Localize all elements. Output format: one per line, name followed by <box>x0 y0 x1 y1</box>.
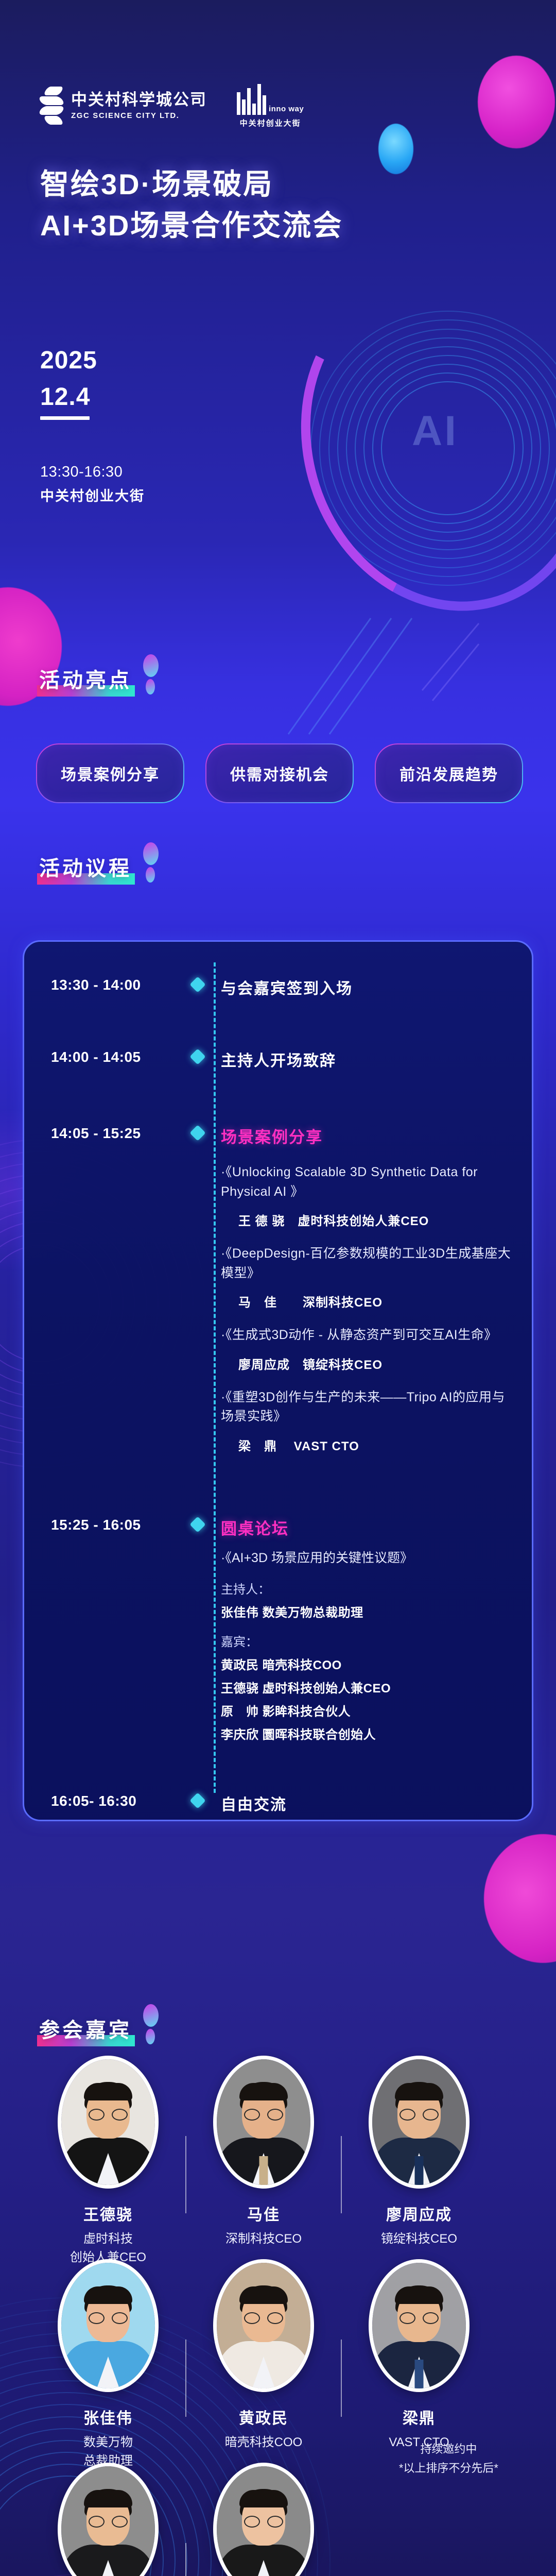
avatar-illustration <box>372 2263 466 2388</box>
guest-note-line-1: 持续邀约中 <box>399 2439 498 2459</box>
decor-magenta-blob-right <box>484 1834 556 1963</box>
section-heading-highlights: 活动亮点 <box>37 654 161 694</box>
avatar-illustration <box>217 2059 310 2185</box>
agenda-talk: ·《重塑3D创作与生产的未来——Tripo AI的应用与场景实践》梁 鼎 VAS… <box>221 1388 511 1454</box>
header-logos: 中关村科学城公司 ZGC SCIENCE CITY LTD. inno way … <box>0 67 556 144</box>
agenda-row-body: 圆桌论坛·《AI+3D 场景应用的关键性议题》主持人：张佳伟 数美万物总裁助理嘉… <box>214 1516 511 1743</box>
event-month-day: 12.4 <box>40 383 97 411</box>
agenda-marker-icon <box>189 1792 214 1815</box>
agenda-marker-icon <box>189 976 214 998</box>
agenda-row-body: 主持人开场致辞 <box>214 1048 511 1071</box>
guest-name: 黄政民 <box>239 2405 288 2428</box>
agenda-talk-speaker: 王 德 骁 虚时科技创始人兼CEO <box>221 1211 511 1229</box>
agenda-heading-text: 活动议程 <box>39 857 132 880</box>
agenda-marker-icon <box>189 1048 214 1071</box>
agenda-row-time: 15:25 - 16:05 <box>51 1516 189 1743</box>
logo-zgc-science-city: 中关村科学城公司 ZGC SCIENCE CITY LTD. <box>40 86 207 126</box>
title-line-2: AI+3D场景合作交流会 <box>40 205 343 246</box>
roundtable-guest: 黄政民 暗壳科技COO <box>221 1655 511 1673</box>
highlight-pill-1: 场景案例分享 <box>36 743 184 803</box>
guest-avatar <box>213 2259 314 2392</box>
guest-note: 持续邀约中 *以上排序不分先后* <box>399 2439 498 2478</box>
logo-zgc-cn: 中关村科学城公司 <box>71 91 207 109</box>
agenda-row-time: 14:05 - 15:25 <box>51 1124 189 1454</box>
event-meta: 13:30-16:30 中关村创业大街 <box>40 464 145 505</box>
logo-zgc-en: ZGC SCIENCE CITY LTD. <box>71 111 207 120</box>
guest-role: 镜绽科技CEO <box>381 2230 457 2248</box>
decor-hero-rings <box>288 289 556 608</box>
dna-helix-icon <box>40 86 63 126</box>
agenda-talk: ·《生成式3D动作 - 从静态资产到可交互AI生命》廖周应成 镜绽科技CEO <box>221 1326 511 1372</box>
section-heading-agenda: 活动议程 <box>37 842 161 883</box>
roundtable-topic: ·《AI+3D 场景应用的关键性议题》 <box>221 1548 511 1568</box>
logo-inno-word: inno way <box>269 106 304 115</box>
guest-note-line-2: *以上排序不分先后* <box>399 2459 498 2478</box>
guest-card: 马佳深制科技CEO <box>186 2056 341 2267</box>
guest-card: 梁鼎VAST CTO <box>342 2259 496 2470</box>
guest-row: 原帅影眸科技合伙人 李庆欣圜晖科技联合创始人 <box>31 2463 350 2576</box>
highlight-pill-3: 前沿发展趋势 <box>375 743 523 803</box>
agenda-row: 13:30 - 14:00与会嘉宾签到入场 <box>24 976 532 998</box>
guest-card: 王德骁虚时科技创始人兼CEO <box>31 2056 185 2267</box>
guest-role: 深制科技CEO <box>225 2230 302 2248</box>
agenda-row-time: 16:05- 16:30 <box>51 1792 189 1815</box>
guest-avatar <box>369 2056 470 2189</box>
avatar-illustration <box>61 2059 155 2185</box>
guest-card: 廖周应成镜绽科技CEO <box>342 2056 496 2267</box>
heading-dots-icon <box>143 2004 161 2044</box>
agenda-row: 15:25 - 16:05圆桌论坛·《AI+3D 场景应用的关键性议题》主持人：… <box>24 1516 532 1743</box>
guest-avatar <box>58 2259 159 2392</box>
agenda-row-body: 与会嘉宾签到入场 <box>214 976 511 998</box>
agenda-card: 13:30 - 14:00与会嘉宾签到入场14:00 - 14:05主持人开场致… <box>23 940 533 1821</box>
guest-name: 马佳 <box>247 2202 280 2225</box>
event-year: 2025 <box>40 346 97 375</box>
registration-footer: 长按识别左侧二维码报名 地址：北京市海淀区中关村创业大街 （具体地址待审核通过后… <box>0 2566 556 2576</box>
section-heading-guests: 参会嘉宾 <box>37 2004 161 2044</box>
agenda-row-time: 13:30 - 14:00 <box>51 976 189 998</box>
highlight-pill-2: 供需对接机会 <box>205 743 354 803</box>
logo-inno-way: inno way 中关村创业大街 <box>237 83 304 128</box>
agenda-talk-title: ·《DeepDesign-百亿参数规模的工业3D生成基座大模型》 <box>221 1244 511 1283</box>
poster-title: 智绘3D·场景破局 AI+3D场景合作交流会 <box>40 164 343 246</box>
guest-avatar <box>58 2056 159 2189</box>
agenda-row-title: 与会嘉宾签到入场 <box>221 976 511 998</box>
guests-heading-text: 参会嘉宾 <box>39 2019 132 2042</box>
guest-row: 王德骁虚时科技创始人兼CEO 马佳深制科技CEO 廖周应成镜绽科技CEO <box>31 2056 515 2267</box>
roundtable-guest-label: 嘉宾： <box>221 1632 511 1650</box>
guest-row: 张佳伟数美万物总裁助理 黄政民暗壳科技COO 梁鼎VAST CTO <box>31 2259 515 2470</box>
agenda-row-title: 场景案例分享 <box>221 1124 511 1147</box>
roundtable-guest: 李庆欣 圜晖科技联合创始人 <box>221 1724 511 1742</box>
guest-card: 黄政民暗壳科技COO <box>186 2259 341 2470</box>
decor-hero-arc <box>258 237 556 650</box>
agenda-row-body: 场景案例分享·《Unlocking Scalable 3D Synthetic … <box>214 1124 511 1454</box>
roundtable-guest: 王德骁 虚时科技创始人兼CEO <box>221 1678 511 1696</box>
guest-avatar <box>213 2463 314 2576</box>
buildings-icon <box>237 84 266 115</box>
guest-avatar <box>213 2056 314 2189</box>
event-poster: AI 中关村科学城公司 ZGC SCIENCE CITY LTD. <box>0 0 556 2576</box>
roundtable-host-label: 主持人： <box>221 1579 511 1597</box>
agenda-marker-icon <box>189 1516 214 1743</box>
agenda-row-list: 13:30 - 14:00与会嘉宾签到入场14:00 - 14:05主持人开场致… <box>24 976 532 1815</box>
guest-name: 张佳伟 <box>83 2405 133 2428</box>
agenda-talk-speaker: 廖周应成 镜绽科技CEO <box>221 1354 511 1372</box>
agenda-talk-title: ·《重塑3D创作与生产的未来——Tripo AI的应用与场景实践》 <box>221 1388 511 1427</box>
ai-watermark: AI <box>412 407 458 455</box>
agenda-talk-title: ·《Unlocking Scalable 3D Synthetic Data f… <box>221 1163 511 1201</box>
agenda-marker-icon <box>189 1124 214 1454</box>
guest-card: 李庆欣圜晖科技联合创始人 <box>186 2463 341 2576</box>
guest-avatar <box>369 2259 470 2392</box>
agenda-talk: ·《DeepDesign-百亿参数规模的工业3D生成基座大模型》马 佳 深制科技… <box>221 1244 511 1310</box>
roundtable-host: 张佳伟 数美万物总裁助理 <box>221 1602 511 1620</box>
guest-avatar <box>58 2463 159 2576</box>
agenda-row-title: 主持人开场致辞 <box>221 1048 511 1071</box>
event-location: 中关村创业大街 <box>40 485 145 505</box>
guest-name: 王德骁 <box>83 2202 133 2225</box>
agenda-row-time: 14:00 - 14:05 <box>51 1048 189 1071</box>
guest-name: 廖周应成 <box>386 2202 452 2225</box>
guest-card: 原帅影眸科技合伙人 <box>31 2463 185 2576</box>
agenda-talk-speaker: 梁 鼎 VAST CTO <box>221 1436 511 1454</box>
guest-role: 暗壳科技COO <box>225 2433 303 2452</box>
guest-name: 梁鼎 <box>403 2405 436 2428</box>
avatar-illustration <box>61 2263 155 2388</box>
highlight-pill-list: 场景案例分享供需对接机会前沿发展趋势 <box>36 743 523 803</box>
avatar-illustration <box>61 2466 155 2576</box>
agenda-row-title: 圆桌论坛 <box>221 1516 511 1539</box>
avatar-illustration <box>372 2059 466 2185</box>
heading-dots-icon <box>143 842 161 883</box>
avatar-illustration <box>217 2466 310 2576</box>
highlights-heading-text: 活动亮点 <box>39 669 132 692</box>
agenda-row: 14:00 - 14:05主持人开场致辞 <box>24 1048 532 1071</box>
agenda-row: 14:05 - 15:25场景案例分享·《Unlocking Scalable … <box>24 1124 532 1454</box>
event-date: 2025 12.4 <box>40 346 97 420</box>
heading-dots-icon <box>143 654 161 694</box>
roundtable-guest: 原 帅 影眸科技合伙人 <box>221 1701 511 1719</box>
date-underline <box>40 416 90 420</box>
agenda-talk: ·《Unlocking Scalable 3D Synthetic Data f… <box>221 1163 511 1229</box>
title-line-1: 智绘3D·场景破局 <box>40 164 343 205</box>
event-time: 13:30-16:30 <box>40 464 145 481</box>
agenda-talk-speaker: 马 佳 深制科技CEO <box>221 1292 511 1310</box>
avatar-illustration <box>217 2263 310 2388</box>
logo-inno-cn: 中关村创业大街 <box>240 117 301 128</box>
agenda-talk-title: ·《生成式3D动作 - 从静态资产到可交互AI生命》 <box>221 1326 511 1345</box>
agenda-row-title: 自由交流 <box>221 1792 511 1815</box>
guest-card: 张佳伟数美万物总裁助理 <box>31 2259 185 2470</box>
agenda-row: 16:05- 16:30自由交流 <box>24 1792 532 1815</box>
agenda-row-body: 自由交流 <box>214 1792 511 1815</box>
decor-diagonal-lines <box>268 613 484 737</box>
